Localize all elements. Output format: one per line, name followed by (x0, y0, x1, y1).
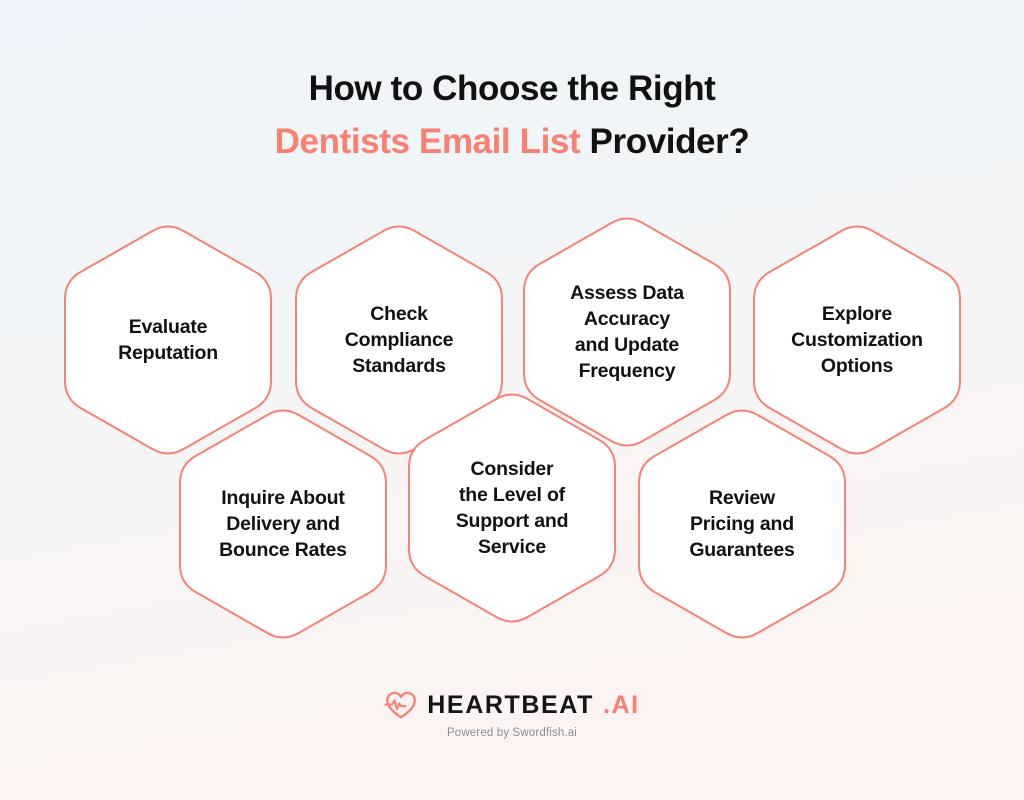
logo-tagline: Powered by Swordfish.ai (447, 727, 577, 739)
title-accent-text: Dentists Email List (275, 122, 581, 161)
page-title: How to Choose the Right Dentists Email L… (0, 62, 1024, 168)
title-rest-text: Provider? (580, 122, 749, 161)
hexagon-label: Consider the Level of Support and Servic… (409, 390, 615, 626)
hexagon-review-pricing-guarantees[interactable]: Review Pricing and Guarantees (639, 406, 845, 642)
brand-logo: HEARTBEAT.AI Powered by Swordfish.ai (0, 690, 1024, 739)
hexagon-label: Inquire About Delivery and Bounce Rates (180, 406, 386, 642)
title-line-2: Dentists Email List Provider? (0, 115, 1024, 168)
logo-suffix: .AI (603, 693, 640, 718)
logo-row: HEARTBEAT.AI (384, 690, 639, 720)
heart-pulse-icon (384, 690, 418, 720)
hexagon-inquire-delivery-bounce[interactable]: Inquire About Delivery and Bounce Rates (180, 406, 386, 642)
hexagon-label: Review Pricing and Guarantees (639, 406, 845, 642)
logo-wordmark: HEARTBEAT (427, 693, 594, 718)
title-line-1: How to Choose the Right (0, 62, 1024, 115)
hexagon-consider-support-service[interactable]: Consider the Level of Support and Servic… (409, 390, 615, 626)
